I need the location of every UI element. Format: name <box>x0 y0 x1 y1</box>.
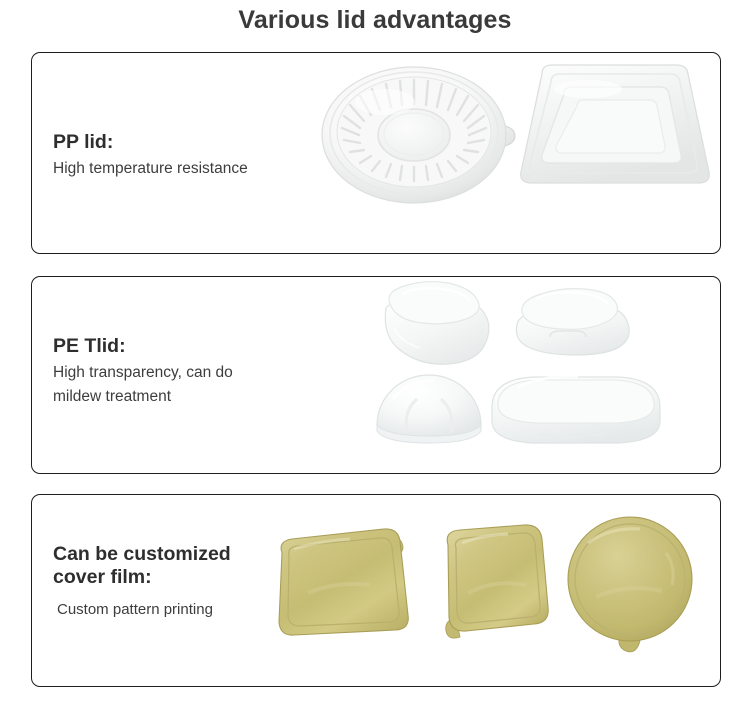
pet-hemisphere-dome-lid-image <box>367 363 492 453</box>
card-pp-lid-description: High temperature resistance <box>53 157 248 181</box>
card-pet-lid-heading: PE Tlid: <box>53 335 233 358</box>
card-pet-lid: PE Tlid: High transparency, can do milde… <box>31 276 721 474</box>
card-cover-film-text-block: Can be customized cover film: Custom pat… <box>53 543 231 621</box>
card-pp-lid-heading: PP lid: <box>53 131 248 154</box>
pp-round-lid-image <box>319 58 529 208</box>
pet-heart-dome-lid-image <box>372 278 497 373</box>
card-pet-lid-text-block: PE Tlid: High transparency, can do milde… <box>53 335 233 409</box>
gold-foil-rectangular-film-image <box>272 523 422 643</box>
page-title: Various lid advantages <box>0 6 750 35</box>
card-cover-film: Can be customized cover film: Custom pat… <box>31 494 721 687</box>
card-pp-lid: PP lid: High temperature resistance <box>31 52 721 254</box>
gold-foil-square-film-image <box>432 521 557 646</box>
card-cover-film-heading: Can be customized cover film: <box>53 543 231 589</box>
card-pp-lid-text-block: PP lid: High temperature resistance <box>53 131 248 181</box>
pet-oval-flat-lid-image <box>484 365 669 453</box>
pp-rectangular-lid-image <box>506 54 721 209</box>
pet-square-dome-lid-image <box>502 277 637 372</box>
card-cover-film-description: Custom pattern printing <box>57 598 231 621</box>
card-pet-lid-description: High transparency, can do mildew treatme… <box>53 361 233 409</box>
gold-foil-round-film-image <box>562 513 702 658</box>
